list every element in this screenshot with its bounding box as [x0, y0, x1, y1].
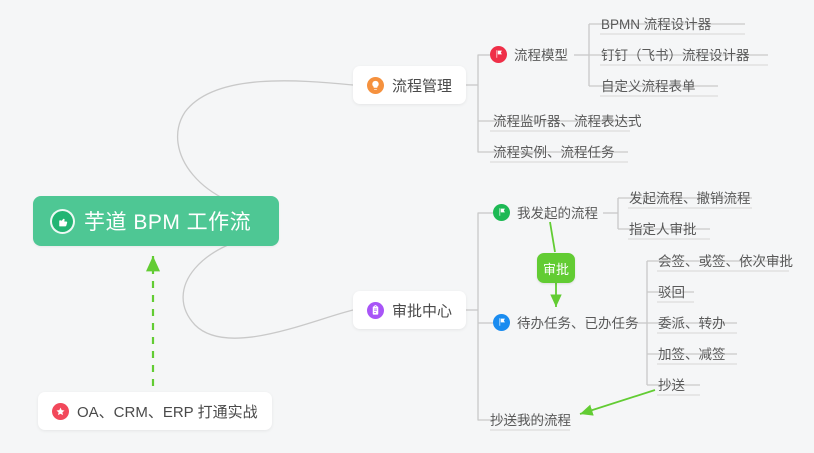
node-todo-done-tasks[interactable]: 待办任务、已办任务 — [493, 309, 639, 337]
lightbulb-icon — [367, 77, 384, 94]
flag-icon-green — [493, 204, 510, 221]
node-label-countersign: 会签、或签、依次审批 — [658, 250, 793, 270]
node-cc-to-me[interactable]: 抄送我的流程 — [490, 406, 571, 434]
node-add-remove-sign[interactable]: 加签、减签 — [658, 340, 726, 368]
node-start-cancel-process[interactable]: 发起流程、撤销流程 — [629, 184, 751, 212]
mindmap-canvas: 芋道 BPM 工作流 流程管理 审批中心 流程模型 流程监听器、流程表达式 流程 — [0, 0, 814, 453]
branch-label-process-management: 流程管理 — [392, 75, 452, 96]
root-label: 芋道 BPM 工作流 — [84, 206, 251, 236]
approval-flow-badge: 审批 — [537, 253, 575, 283]
node-cc[interactable]: 抄送 — [658, 371, 685, 399]
node-dingtalk-designer[interactable]: 钉钉（飞书）流程设计器 — [601, 41, 750, 69]
flag-icon-red — [490, 46, 507, 63]
node-bpmn-designer[interactable]: BPMN 流程设计器 — [601, 10, 711, 38]
node-listener-expression[interactable]: 流程监听器、流程表达式 — [493, 107, 642, 135]
node-my-initiated[interactable]: 我发起的流程 — [493, 199, 598, 227]
branch-node-process-management[interactable]: 流程管理 — [353, 66, 466, 104]
node-label-my-initiated: 我发起的流程 — [517, 202, 598, 222]
integration-practice-label: OA、CRM、ERP 打通实战 — [77, 401, 258, 422]
thumbs-up-icon — [50, 209, 75, 234]
node-label-start-cancel-process: 发起流程、撤销流程 — [629, 187, 751, 207]
node-reject[interactable]: 驳回 — [658, 278, 685, 306]
clipboard-icon — [367, 302, 384, 319]
node-instance-task[interactable]: 流程实例、流程任务 — [493, 138, 615, 166]
flag-icon-blue — [493, 314, 510, 331]
node-label-designated-approver: 指定人审批 — [629, 218, 697, 238]
node-label-process-model: 流程模型 — [514, 44, 568, 64]
node-label-bpmn-designer: BPMN 流程设计器 — [601, 13, 711, 33]
node-label-instance-task: 流程实例、流程任务 — [493, 141, 615, 161]
node-label-reject: 驳回 — [658, 281, 685, 301]
root-node[interactable]: 芋道 BPM 工作流 — [33, 196, 279, 246]
node-label-delegate-transfer: 委派、转办 — [658, 312, 726, 332]
node-label-add-remove-sign: 加签、减签 — [658, 343, 726, 363]
node-label-cc: 抄送 — [658, 374, 685, 394]
branch-label-approval-center: 审批中心 — [392, 300, 452, 321]
node-label-cc-to-me: 抄送我的流程 — [490, 409, 571, 429]
node-custom-form[interactable]: 自定义流程表单 — [601, 72, 696, 100]
node-process-model[interactable]: 流程模型 — [490, 41, 568, 69]
node-designated-approver[interactable]: 指定人审批 — [629, 215, 697, 243]
node-label-todo-done-tasks: 待办任务、已办任务 — [517, 312, 639, 332]
node-delegate-transfer[interactable]: 委派、转办 — [658, 309, 726, 337]
integration-practice-card[interactable]: OA、CRM、ERP 打通实战 — [38, 392, 272, 430]
node-countersign[interactable]: 会签、或签、依次审批 — [658, 247, 793, 275]
star-icon — [52, 403, 69, 420]
node-label-dingtalk-designer: 钉钉（飞书）流程设计器 — [601, 44, 750, 64]
branch-node-approval-center[interactable]: 审批中心 — [353, 291, 466, 329]
node-label-custom-form: 自定义流程表单 — [601, 75, 696, 95]
node-label-listener-expression: 流程监听器、流程表达式 — [493, 110, 642, 130]
approval-flow-badge-label: 审批 — [543, 259, 569, 278]
